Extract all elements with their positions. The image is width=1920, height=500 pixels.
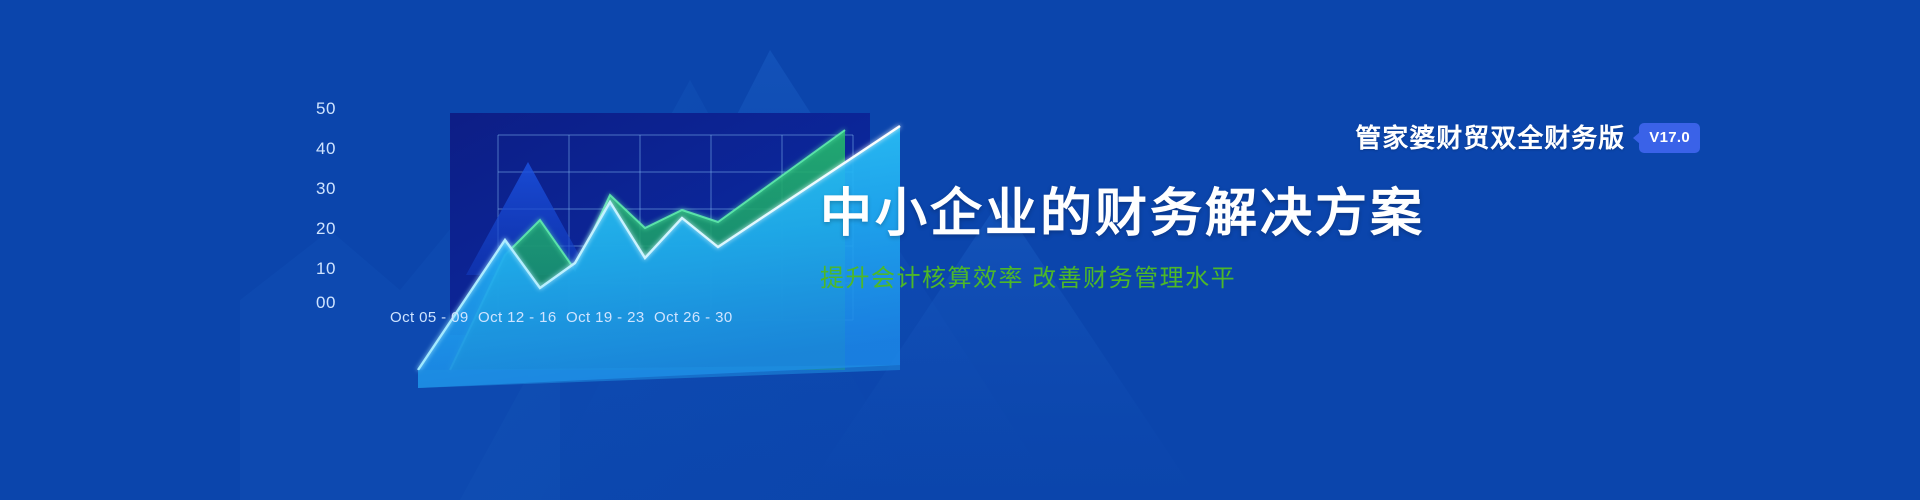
- promo-copy: 管家婆财贸双全财务版 V17.0 中小企业的财务解决方案 提升会计核算效率 改善…: [820, 118, 1800, 358]
- page-title: 中小企业的财务解决方案: [820, 186, 1800, 243]
- page-subtitle: 提升会计核算效率 改善财务管理水平: [820, 265, 1800, 294]
- brand-name: 管家婆财贸双全财务版: [1355, 125, 1625, 151]
- promo-banner: 50 40 30 20 10 00 Oct 05 - 09 Oct 12 - 1…: [0, 0, 1920, 500]
- y-axis-ticks: 50 40 30 20 10 00: [316, 99, 336, 312]
- y-tick-label: 10: [316, 259, 336, 278]
- y-tick-label: 40: [316, 139, 336, 158]
- y-tick-label: 30: [316, 179, 336, 198]
- x-tick-label-2: Oct 12 - 16: [478, 309, 557, 326]
- version-badge: V17.0: [1639, 123, 1700, 153]
- x-tick-label-3: Oct 19 - 23: [566, 309, 645, 326]
- y-tick-label: 20: [316, 219, 336, 238]
- x-tick-label-1: Oct 05 - 09: [390, 309, 469, 326]
- x-tick-label-4: Oct 26 - 30: [654, 309, 733, 326]
- y-tick-label: 50: [316, 99, 336, 118]
- brand-row: 管家婆财贸双全财务版 V17.0: [820, 118, 1800, 158]
